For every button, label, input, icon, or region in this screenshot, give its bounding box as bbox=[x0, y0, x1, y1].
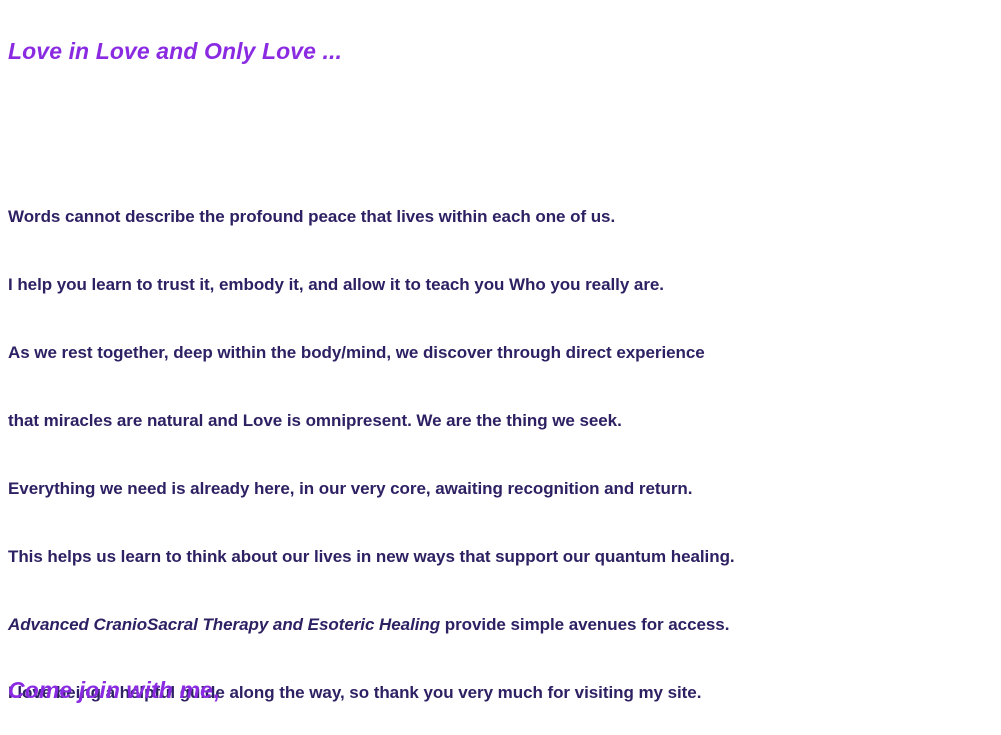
modality-emphasis: Advanced CranioSacral Therapy and Esoter… bbox=[8, 615, 440, 634]
closing-invitation-text: Come join with me bbox=[8, 677, 213, 703]
body-line: Words cannot describe the profound peace… bbox=[8, 191, 998, 242]
body-text-block: Words cannot describe the profound peace… bbox=[8, 174, 998, 735]
closing-invitation: Come join with me, bbox=[8, 675, 219, 705]
body-line: As we rest together, deep within the bod… bbox=[8, 327, 998, 378]
body-line-text: As we rest together, deep within the bod… bbox=[8, 343, 705, 362]
body-line-text: This helps us learn to think about our l… bbox=[8, 547, 735, 566]
body-line-text: I help you learn to trust it, embody it,… bbox=[8, 275, 664, 294]
body-line-text: Words cannot describe the profound peace… bbox=[8, 207, 615, 226]
body-line: This helps us learn to think about our l… bbox=[8, 531, 998, 582]
page-root: Love in Love and Only Love ... Words can… bbox=[0, 0, 1001, 700]
closing-invitation-comma: , bbox=[213, 677, 220, 703]
body-line: I help you learn to trust it, embody it,… bbox=[8, 259, 998, 310]
body-line: Everything we need is already here, in o… bbox=[8, 463, 998, 514]
body-line: that miracles are natural and Love is om… bbox=[8, 395, 998, 446]
body-line-text: that miracles are natural and Love is om… bbox=[8, 411, 622, 430]
body-line-text: provide simple avenues for access. bbox=[440, 615, 729, 634]
body-line-with-emphasis: Advanced CranioSacral Therapy and Esoter… bbox=[8, 599, 998, 650]
page-title: Love in Love and Only Love ... bbox=[8, 36, 342, 66]
body-line-text: Everything we need is already here, in o… bbox=[8, 479, 692, 498]
